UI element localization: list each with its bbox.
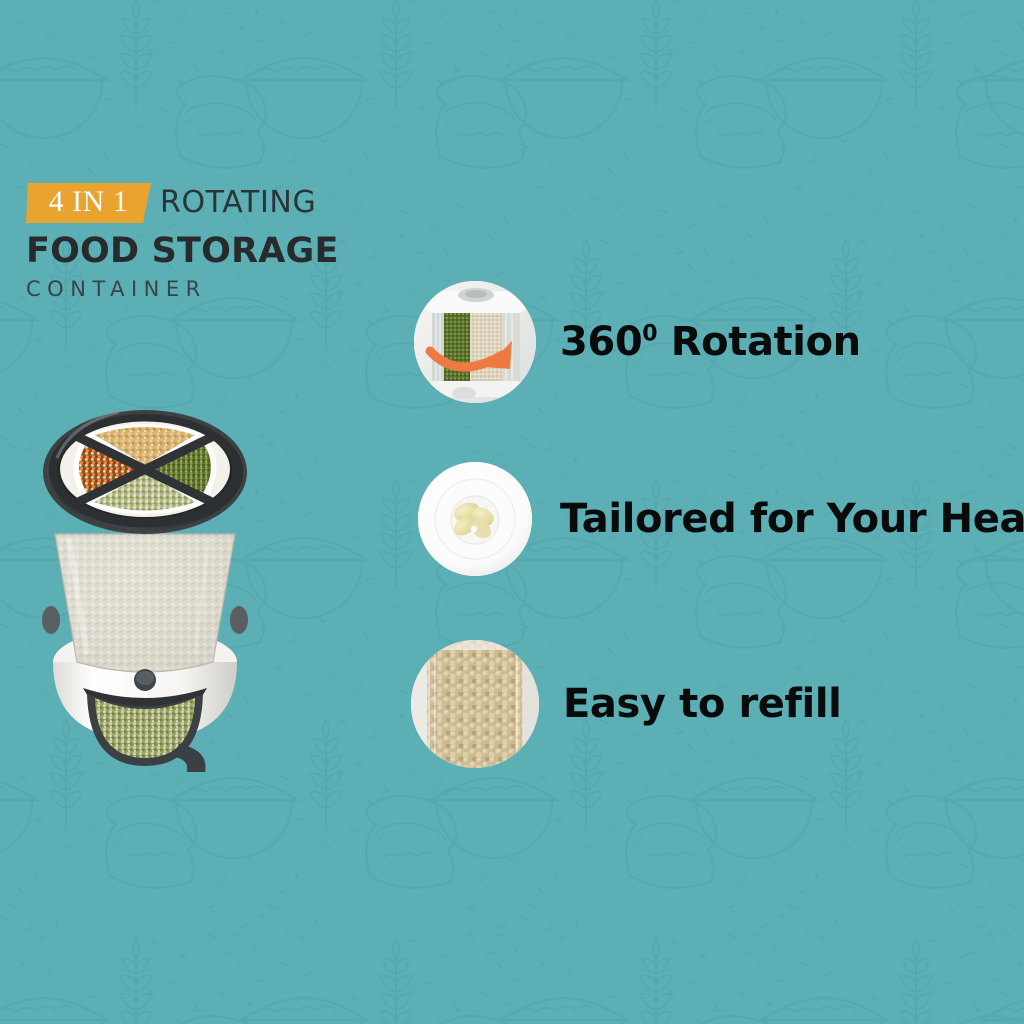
badge-label: 4 IN 1 bbox=[26, 183, 151, 223]
feature-row-refill: Easy to refill bbox=[411, 640, 841, 768]
headline-line-1: 4 IN 1 ROTATING bbox=[26, 183, 446, 223]
headline-line-3: CONTAINER bbox=[26, 279, 446, 300]
product-marketing-banner: 4 IN 1 ROTATING FOOD STORAGE CONTAINER bbox=[0, 0, 1024, 1024]
feature-row-rotation: 3600 Rotation bbox=[414, 281, 861, 403]
headline-block: 4 IN 1 ROTATING FOOD STORAGE CONTAINER bbox=[26, 183, 446, 300]
rotation-degree-symbol: 0 bbox=[642, 322, 657, 347]
feature-label-rotation: 3600 Rotation bbox=[560, 322, 861, 362]
chickpeas-container-photo bbox=[411, 640, 539, 768]
headline-line-2: FOOD STORAGE bbox=[26, 234, 446, 269]
feature-label-refill: Easy to refill bbox=[563, 684, 841, 724]
product-photo-rotating-container bbox=[0, 362, 295, 772]
four-in-one-badge: 4 IN 1 bbox=[26, 183, 151, 223]
headline-rotating-word: ROTATING bbox=[160, 188, 316, 218]
feature-label-health: Tailored for Your Health bbox=[560, 499, 1024, 539]
rotating-jar-photo bbox=[414, 281, 536, 403]
rotation-label-tail: Rotation bbox=[657, 319, 861, 365]
feature-row-health: Tailored for Your Health bbox=[418, 462, 1024, 576]
almonds-on-plate-photo bbox=[418, 462, 532, 576]
rotation-degrees-value: 360 bbox=[560, 319, 642, 365]
